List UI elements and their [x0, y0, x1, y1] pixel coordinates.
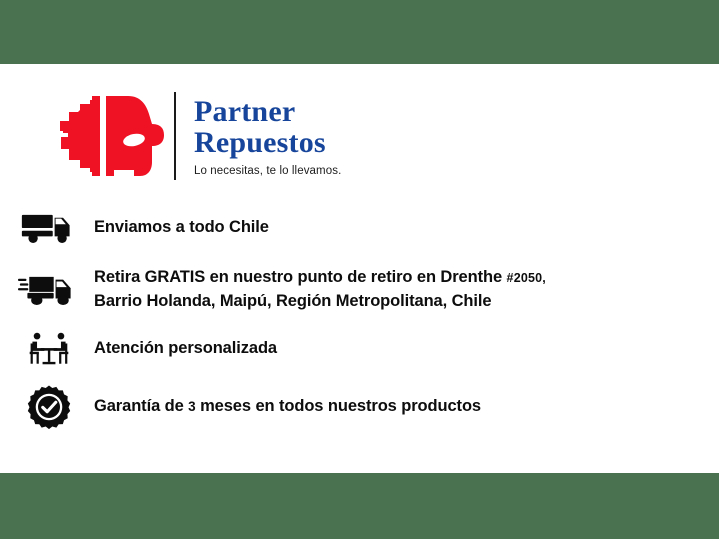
feature-list: Enviamos a todo Chile — [0, 206, 719, 443]
top-green-band — [0, 0, 719, 64]
delivery-truck-icon — [18, 206, 80, 250]
feature-text-shipping: Enviamos a todo Chile — [94, 206, 269, 239]
feature-attention-label: Atención personalizada — [94, 339, 277, 357]
bottom-green-band — [0, 473, 719, 539]
feature-shipping-label: Enviamos a todo Chile — [94, 218, 269, 236]
gear-car-logo-icon — [56, 90, 168, 182]
promo-banner: Partner Repuestos Lo necesitas, te lo ll… — [0, 0, 719, 539]
feature-pickup-label: Retira GRATIS en nuestro punto de retiro… — [94, 268, 507, 286]
people-at-table-icon — [18, 327, 80, 371]
feature-text-warranty: Garantía de 3 meses en todos nuestros pr… — [94, 385, 481, 418]
brand-tagline: Lo necesitas, te lo llevamos. — [194, 165, 341, 177]
logo-divider — [174, 92, 176, 180]
feature-warranty-months: 3 — [188, 399, 195, 414]
feature-pickup-line-1: Retira GRATIS en nuestro punto de retiro… — [94, 266, 546, 290]
feature-row-attention: Atención personalizada — [0, 327, 719, 371]
feature-row-warranty: Garantía de 3 meses en todos nuestros pr… — [0, 385, 719, 429]
feature-row-shipping: Enviamos a todo Chile — [0, 206, 719, 250]
brand-wordmark: Partner Repuestos Lo necesitas, te lo ll… — [194, 96, 341, 177]
brand-logo-block: Partner Repuestos Lo necesitas, te lo ll… — [56, 90, 341, 182]
feature-text-attention: Atención personalizada — [94, 327, 277, 360]
feature-pickup-line-2: Barrio Holanda, Maipú, Región Metropolit… — [94, 290, 546, 313]
feature-warranty-label-after: meses en todos nuestros productos — [196, 397, 481, 415]
guarantee-badge-icon — [18, 385, 80, 429]
moving-truck-icon — [18, 268, 80, 312]
feature-pickup-street-number: #2050, — [507, 271, 546, 285]
brand-name-line-1: Partner — [194, 96, 341, 127]
feature-row-pickup: Retira GRATIS en nuestro punto de retiro… — [0, 264, 719, 313]
brand-name-line-2: Repuestos — [194, 127, 341, 158]
feature-text-pickup: Retira GRATIS en nuestro punto de retiro… — [94, 264, 546, 313]
feature-warranty-label-before: Garantía de — [94, 397, 188, 415]
